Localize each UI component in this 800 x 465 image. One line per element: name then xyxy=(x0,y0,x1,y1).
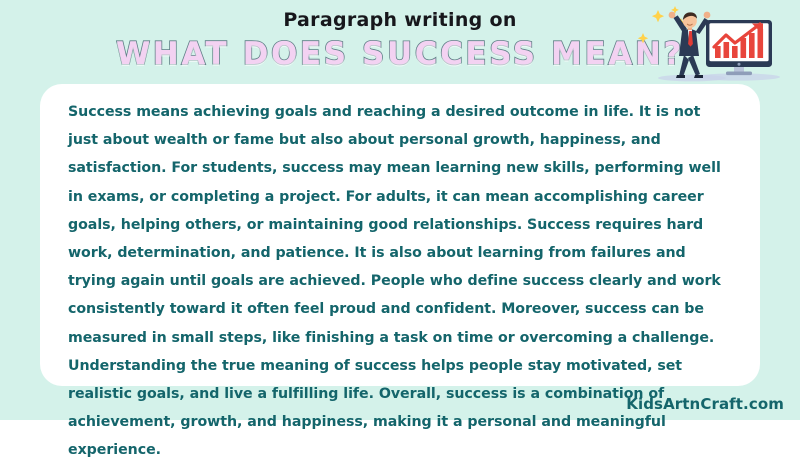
content-card: Success means achieving goals and reachi… xyxy=(40,84,760,386)
computer-monitor-icon xyxy=(706,20,772,75)
site-brand-watermark: KidsArtnCraft.com xyxy=(626,395,784,413)
success-businessman-chart-illustration xyxy=(634,2,782,84)
page-root: Paragraph writing on WHAT DOES SUCCESS M… xyxy=(0,0,800,420)
celebrating-businessman-icon xyxy=(669,12,711,78)
